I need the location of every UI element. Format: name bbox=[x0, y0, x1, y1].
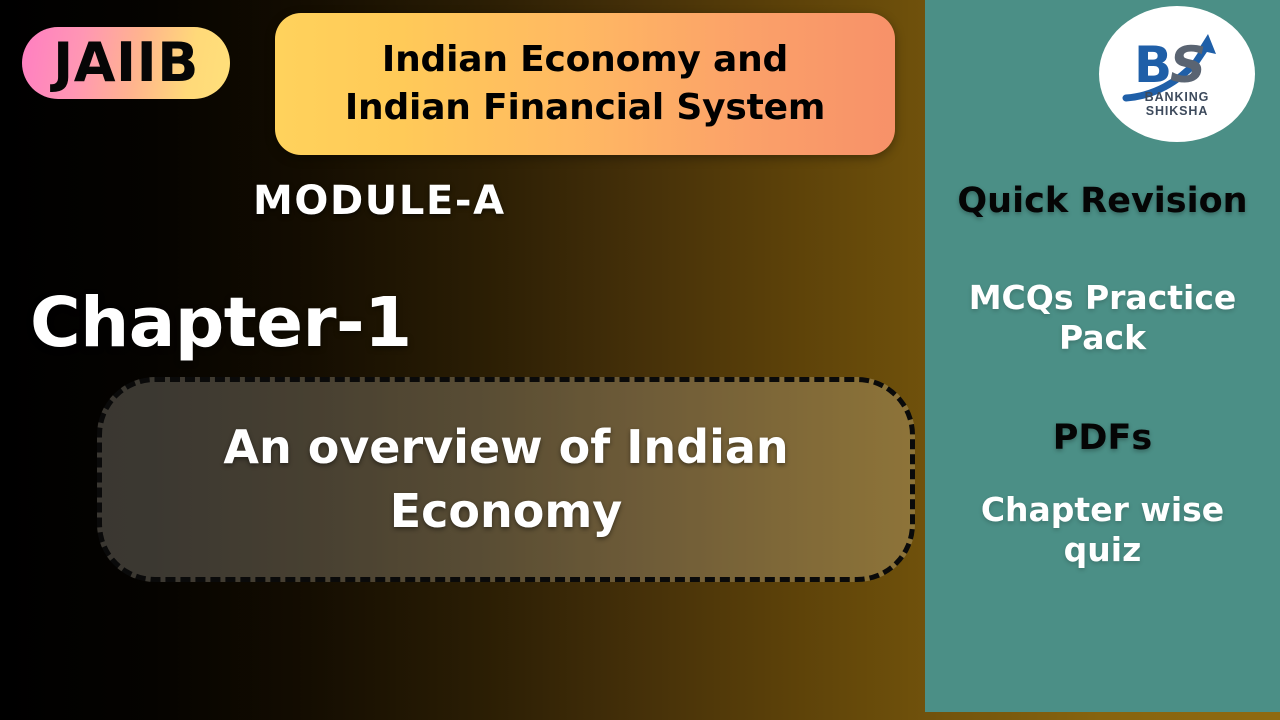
subject-title-line-1: Indian Economy and bbox=[382, 36, 788, 84]
logo-wordmark: BANKING SHIKSHA bbox=[1112, 90, 1242, 118]
side-panel-item-quick-revision[interactable]: Quick Revision bbox=[925, 180, 1280, 223]
subject-title-banner: Indian Economy and Indian Financial Syst… bbox=[275, 13, 895, 155]
subject-title-line-2: Indian Financial System bbox=[345, 84, 825, 132]
slide-canvas: Quick Revision MCQs Practice Pack PDFs C… bbox=[0, 0, 1280, 720]
logo-mark: B S BANKING SHIKSHA bbox=[1112, 24, 1242, 124]
topic-title: An overview of Indian Economy bbox=[142, 416, 870, 543]
exam-badge: JAIIB bbox=[22, 27, 230, 99]
svg-text:B: B bbox=[1134, 36, 1172, 94]
topic-box: An overview of Indian Economy bbox=[97, 377, 915, 582]
side-panel-item-mcqs-practice-pack[interactable]: MCQs Practice Pack bbox=[925, 278, 1280, 359]
side-panel-item-pdfs[interactable]: PDFs bbox=[925, 417, 1280, 460]
side-panel-item-chapter-wise-quiz[interactable]: Chapter wise quiz bbox=[925, 490, 1280, 571]
chapter-label: Chapter-1 bbox=[30, 283, 412, 363]
module-label: MODULE-A bbox=[253, 178, 506, 224]
banking-shiksha-logo: B S BANKING SHIKSHA bbox=[1099, 6, 1255, 142]
exam-badge-label: JAIIB bbox=[53, 36, 199, 90]
svg-text:S: S bbox=[1170, 36, 1206, 94]
